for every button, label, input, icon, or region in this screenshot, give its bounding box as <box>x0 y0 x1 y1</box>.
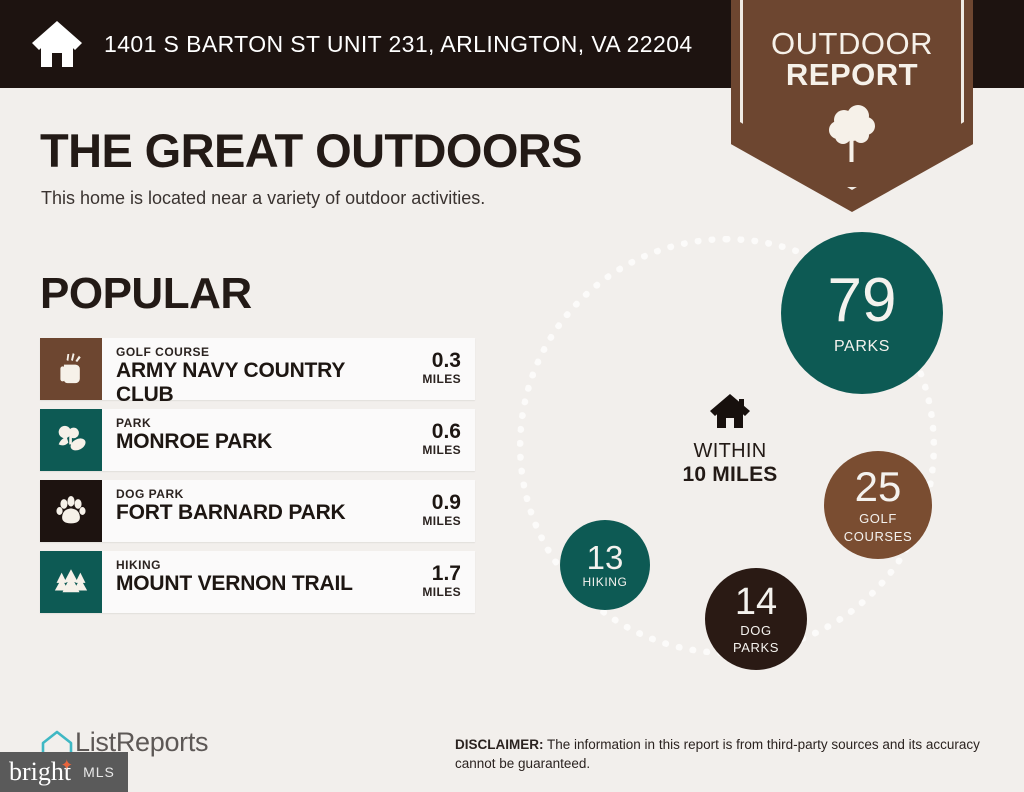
list-item-name: FORT BARNARD PARK <box>116 501 403 525</box>
home-icon <box>30 19 84 69</box>
list-item[interactable]: HIKING MOUNT VERNON TRAIL 1.7 MILES <box>40 551 475 613</box>
list-item-name: ARMY NAVY COUNTRY CLUB <box>116 359 403 407</box>
distance-unit: MILES <box>403 443 461 457</box>
star-icon: ✦ <box>61 759 74 774</box>
list-item[interactable]: DOG PARK FORT BARNARD PARK 0.9 MILES <box>40 480 475 542</box>
stat-label-line2: COURSES <box>844 530 913 544</box>
list-item-distance: 1.7 MILES <box>403 551 475 613</box>
property-address: 1401 S BARTON ST UNIT 231, ARLINGTON, VA… <box>104 31 693 58</box>
distance-value: 1.7 <box>403 563 461 585</box>
disclaimer: DISCLAIMER: The information in this repo… <box>455 735 1000 773</box>
outdoor-report-badge: OUTDOOR REPORT <box>731 0 973 212</box>
watermark-suffix: MLS <box>83 764 115 780</box>
pine-trees-icon <box>40 551 102 613</box>
stat-count: 13 <box>587 541 624 574</box>
stat-count: 79 <box>828 270 897 332</box>
stat-label: HIKING <box>583 576 628 589</box>
watermark-brand: bright ✦ <box>9 759 71 785</box>
disclaimer-label: DISCLAIMER: <box>455 737 544 752</box>
distance-value: 0.6 <box>403 421 461 443</box>
home-icon <box>709 393 751 429</box>
stat-label: PARKS <box>834 339 890 356</box>
golf-bag-icon <box>40 338 102 400</box>
stat-bubble-hiking[interactable]: 13 HIKING <box>560 520 650 610</box>
list-item-name: MOUNT VERNON TRAIL <box>116 572 403 596</box>
park-trees-icon <box>40 409 102 471</box>
distance-unit: MILES <box>403 514 461 528</box>
list-item-text: PARK MONROE PARK <box>102 409 403 471</box>
paw-print-icon <box>40 480 102 542</box>
outdoor-report-page: 1401 S BARTON ST UNIT 231, ARLINGTON, VA… <box>0 0 1024 792</box>
within-line1: WITHIN <box>650 440 810 463</box>
list-item-category: HIKING <box>116 558 403 572</box>
list-item[interactable]: GOLF COURSE ARMY NAVY COUNTRY CLUB 0.3 M… <box>40 338 475 400</box>
list-item[interactable]: PARK MONROE PARK 0.6 MILES <box>40 409 475 471</box>
list-item-category: GOLF COURSE <box>116 345 403 359</box>
stat-count: 25 <box>855 466 902 508</box>
stat-count: 14 <box>735 583 777 621</box>
list-item-distance: 0.9 MILES <box>403 480 475 542</box>
list-item-category: PARK <box>116 416 403 430</box>
distance-value: 0.9 <box>403 492 461 514</box>
distance-unit: MILES <box>403 585 461 599</box>
stat-label-line1: GOLF <box>859 512 897 526</box>
list-item-category: DOG PARK <box>116 487 403 501</box>
within-line2: 10 MILES <box>650 463 810 487</box>
badge-title-line2: REPORT <box>731 57 973 93</box>
list-item-text: HIKING MOUNT VERNON TRAIL <box>102 551 403 613</box>
list-item-distance: 0.6 MILES <box>403 409 475 471</box>
stat-bubble-parks[interactable]: 79 PARKS <box>781 232 943 394</box>
within-radius-label: WITHIN 10 MILES <box>650 393 810 487</box>
nearby-stats-diagram: WITHIN 10 MILES 79 PARKS 25 GOLF COURSES… <box>490 220 1024 690</box>
stat-label-line1: DOG <box>740 624 771 638</box>
list-item-text: GOLF COURSE ARMY NAVY COUNTRY CLUB <box>102 338 403 400</box>
list-item-text: DOG PARK FORT BARNARD PARK <box>102 480 403 542</box>
page-title: THE GREAT OUTDOORS <box>40 123 582 178</box>
page-subtitle: This home is located near a variety of o… <box>41 188 485 209</box>
list-item-name: MONROE PARK <box>116 430 403 454</box>
section-title-popular: POPULAR <box>40 269 252 319</box>
stat-bubble-golf-courses[interactable]: 25 GOLF COURSES <box>824 451 932 559</box>
distance-unit: MILES <box>403 372 461 386</box>
brightmls-watermark: bright ✦ MLS <box>0 752 128 792</box>
list-item-distance: 0.3 MILES <box>403 338 475 400</box>
popular-list: GOLF COURSE ARMY NAVY COUNTRY CLUB 0.3 M… <box>40 338 475 622</box>
tree-icon <box>828 102 876 164</box>
stat-bubble-dog-parks[interactable]: 14 DOG PARKS <box>705 568 807 670</box>
stat-label-line2: PARKS <box>733 641 779 655</box>
distance-value: 0.3 <box>403 350 461 372</box>
